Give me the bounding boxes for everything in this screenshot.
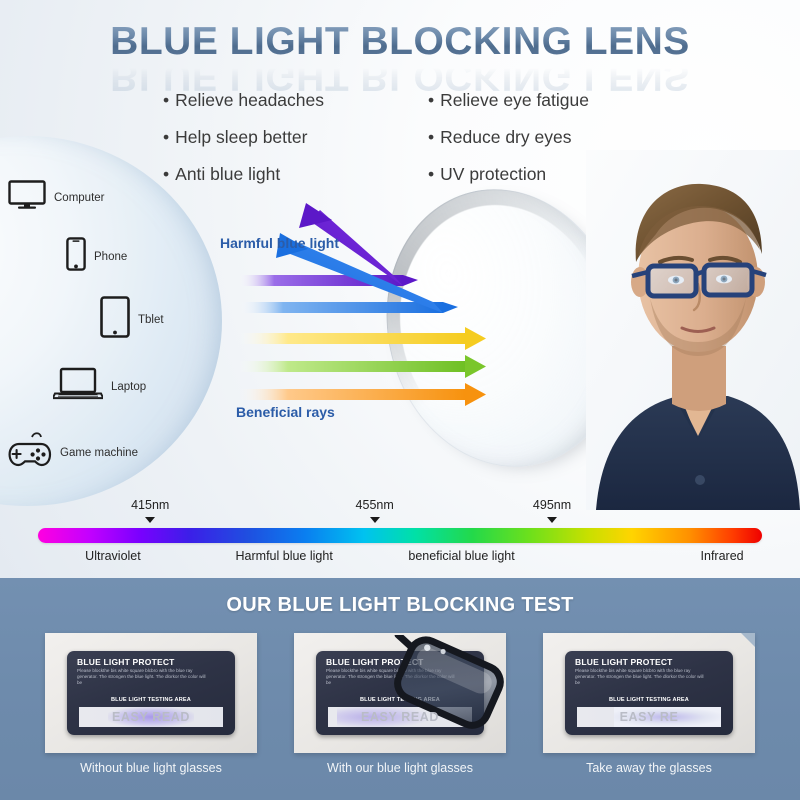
device-label: Phone [94, 251, 127, 263]
card-area-label: BLUE LIGHT TESTING AREA [316, 697, 484, 703]
test-caption: With our blue light glasses [294, 761, 506, 775]
device-label: Game machine [60, 447, 138, 459]
device-label: Laptop [111, 381, 146, 393]
easy-read-text: EASY READ [112, 710, 190, 724]
bullet-dot: • [428, 156, 434, 193]
test-caption: Take away the glasses [543, 761, 755, 775]
light-rays-diagram [180, 190, 540, 450]
benefit-label: Relieve eye fatigue [440, 90, 589, 110]
test-photo: BLUE LIGHT PROTECT Please blockthe bis w… [294, 633, 506, 753]
card-fine-print: Please blockthe bis white square blcbro … [77, 668, 207, 687]
bullet-dot: • [163, 119, 169, 156]
spectrum-marker-arrow [145, 517, 155, 523]
blocking-test-section: OUR BLUE LIGHT BLOCKING TEST BLUE LIGHT … [0, 578, 800, 800]
test-card: BLUE LIGHT PROTECT Please blockthe bis w… [565, 651, 733, 735]
monitor-icon [8, 180, 46, 215]
device-label: Tblet [138, 314, 164, 326]
page-curl-corner [740, 633, 755, 648]
page-title-text: BLUE LIGHT BLOCKING LENS [0, 22, 800, 61]
test-cell: BLUE LIGHT PROTECT Please blockthe bis w… [543, 633, 755, 775]
easy-read-text: EASY RE [620, 710, 679, 724]
testing-area-bar: EASY READ [328, 707, 472, 727]
benefit-label: Relieve headaches [175, 90, 324, 110]
benefit-item: •Help sleep better [163, 119, 428, 156]
spectrum-band-label: Infrared [701, 549, 744, 563]
card-heading: BLUE LIGHT PROTECT [575, 657, 673, 667]
benefit-label: Reduce dry eyes [440, 127, 571, 147]
test-card: BLUE LIGHT PROTECT Please blockthe bis w… [67, 651, 235, 735]
card-fine-print: Please blockthe bis white square blcbro … [326, 668, 456, 687]
test-caption: Without blue light glasses [45, 761, 257, 775]
card-heading: BLUE LIGHT PROTECT [77, 657, 175, 667]
card-fine-print: Please blockthe bis white square blcbro … [575, 668, 705, 687]
light-spectrum: 415nm 455nm 495nm Ultraviolet Harmful bl… [0, 498, 800, 578]
testing-area-bar: EASY READ [79, 707, 223, 727]
device-item-laptop: Laptop [53, 367, 146, 406]
spectrum-band-label: Ultraviolet [85, 549, 141, 563]
device-item-tablet: Tblet [100, 296, 164, 343]
testing-area-bar: EASY RE [577, 707, 721, 727]
spectrum-marker-arrow [547, 517, 557, 523]
benefit-label: UV protection [440, 164, 546, 184]
card-area-label: BLUE LIGHT TESTING AREA [565, 697, 733, 703]
benefit-label: Anti blue light [175, 164, 280, 184]
benefit-item: •Relieve headaches [163, 82, 428, 119]
bullet-dot: • [163, 82, 169, 119]
spectrum-marker-arrow [370, 517, 380, 523]
section-title: OUR BLUE LIGHT BLOCKING TEST [0, 594, 800, 617]
benefit-label: Help sleep better [175, 127, 307, 147]
infographic-page: BLUE LIGHT BLOCKING LENS BLUE LIGHT BLOC… [0, 0, 800, 800]
benefits-list: •Relieve headaches •Relieve eye fatigue … [163, 82, 633, 193]
device-item-computer: Computer [8, 180, 105, 215]
test-card: BLUE LIGHT PROTECT Please blockthe bis w… [316, 651, 484, 735]
smartphone-icon [66, 237, 86, 276]
spectrum-bar [38, 528, 762, 543]
easy-read-text: EASY READ [361, 710, 439, 724]
harmful-blue-light-label: Harmful blue light [220, 235, 339, 251]
spectrum-marker-label: 495nm [533, 498, 571, 512]
spectrum-marker-label: 415nm [131, 498, 169, 512]
benefit-item: •Anti blue light [163, 156, 428, 193]
laptop-icon [53, 367, 103, 406]
spectrum-marker-label: 455nm [356, 498, 394, 512]
beneficial-rays-label: Beneficial rays [236, 404, 335, 420]
top-section: BLUE LIGHT BLOCKING LENS BLUE LIGHT BLOC… [0, 0, 800, 578]
bullet-dot: • [428, 119, 434, 156]
device-item-phone: Phone [66, 237, 127, 276]
device-label: Computer [54, 192, 105, 204]
test-photo: BLUE LIGHT PROTECT Please blockthe bis w… [45, 633, 257, 753]
gamepad-icon [8, 432, 52, 473]
test-cell: BLUE LIGHT PROTECT Please blockthe bis w… [45, 633, 257, 775]
device-item-game-machine: Game machine [8, 432, 138, 473]
test-cell: BLUE LIGHT PROTECT Please blockthe bis w… [294, 633, 506, 775]
test-photo: BLUE LIGHT PROTECT Please blockthe bis w… [543, 633, 755, 753]
spectrum-band-label: beneficial blue light [408, 549, 514, 563]
card-heading: BLUE LIGHT PROTECT [326, 657, 424, 667]
model-photo [586, 150, 800, 510]
spectrum-band-label: Harmful blue light [236, 549, 333, 563]
bullet-dot: • [163, 156, 169, 193]
bullet-dot: • [428, 82, 434, 119]
card-area-label: BLUE LIGHT TESTING AREA [67, 697, 235, 703]
tablet-icon [100, 296, 130, 343]
benefit-item: •Relieve eye fatigue [428, 82, 633, 119]
